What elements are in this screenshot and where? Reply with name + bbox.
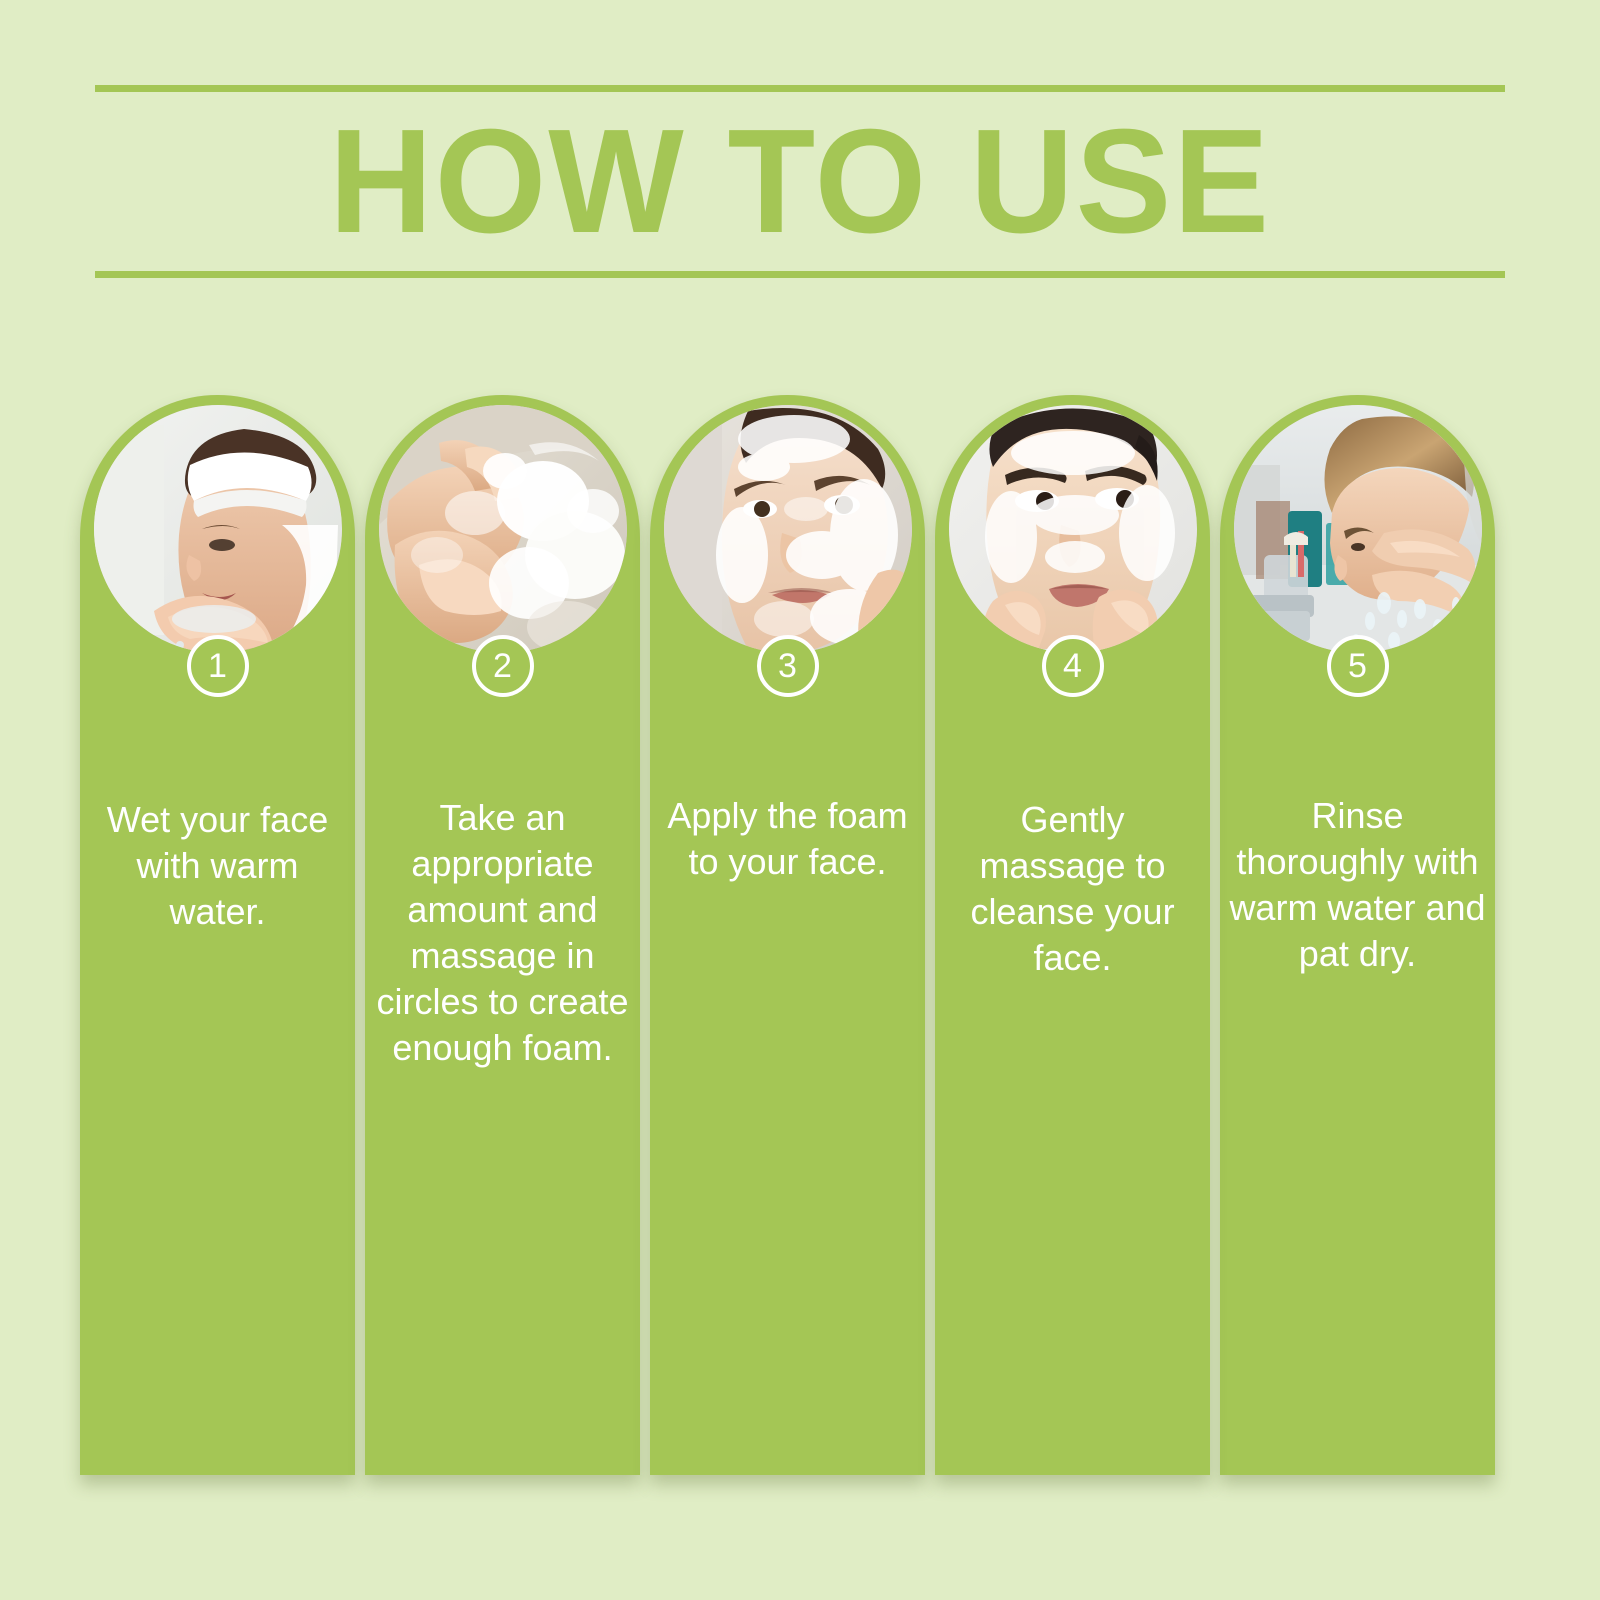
step-number-badge: 2 xyxy=(472,635,534,697)
step-card-3[interactable]: 3 Apply the foam to your face. xyxy=(650,395,925,1475)
step-card-4[interactable]: 4 Gently massage to cleanse your face. xyxy=(935,395,1210,1475)
step-photo-1 xyxy=(94,405,342,653)
step-number-badge: 1 xyxy=(187,635,249,697)
step-caption: Wet your face with warm water. xyxy=(88,797,347,935)
step-caption: Take an appropriate amount and massage i… xyxy=(373,795,632,1071)
step-number-badge: 3 xyxy=(757,635,819,697)
header-rule-top xyxy=(95,85,1505,92)
rinsing-at-sink-photo-icon xyxy=(1234,405,1482,653)
step-caption: Apply the foam to your face. xyxy=(658,793,917,885)
woman-washing-face-photo-icon xyxy=(94,405,342,653)
step-photo-4 xyxy=(949,405,1197,653)
step-number-badge: 4 xyxy=(1042,635,1104,697)
step-photo-2 xyxy=(379,405,627,653)
massaging-foam-photo-icon xyxy=(949,405,1197,653)
step-photo-5 xyxy=(1234,405,1482,653)
page-title: HOW TO USE xyxy=(116,92,1484,271)
step-number-badge: 5 xyxy=(1327,635,1389,697)
step-card-5[interactable]: 5 Rinse thoroughly with warm water and p… xyxy=(1220,395,1495,1475)
step-caption: Gently massage to cleanse your face. xyxy=(943,797,1202,981)
step-caption: Rinse thoroughly with warm water and pat… xyxy=(1228,793,1487,977)
header-rule-bottom xyxy=(95,271,1505,278)
step-card-1[interactable]: 1 Wet your face with warm water. xyxy=(80,395,355,1475)
hands-lathering-foam-photo-icon xyxy=(379,405,627,653)
foam-on-face-photo-icon xyxy=(664,405,912,653)
step-photo-3 xyxy=(664,405,912,653)
header: HOW TO USE xyxy=(95,85,1505,278)
step-card-2[interactable]: 2 Take an appropriate amount and massage… xyxy=(365,395,640,1475)
steps-row: 1 Wet your face with warm water. xyxy=(80,395,1495,1475)
